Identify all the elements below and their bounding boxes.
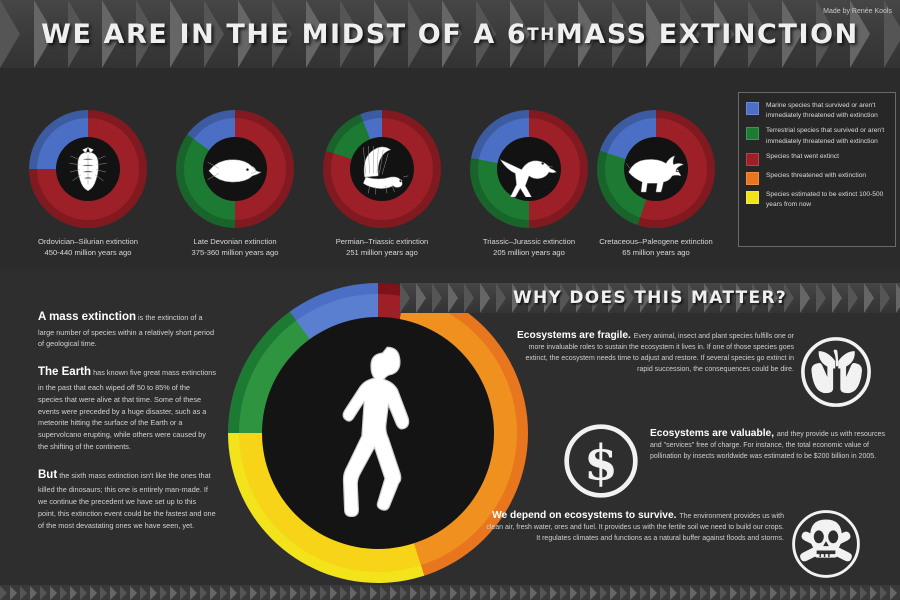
matter-section-title: WHY DOES THIS MATTER? xyxy=(400,283,900,313)
chevron-arrow xyxy=(60,586,67,600)
extinction-caption: Ordovician–Silurian extinction450-440 mi… xyxy=(8,236,168,259)
extinction-caption: Late Devonian extinction375-360 million … xyxy=(155,236,315,259)
chevron-arrow xyxy=(20,586,27,600)
chevron-arrow xyxy=(150,586,157,600)
chevron-arrow xyxy=(520,586,527,600)
chevron-arrow xyxy=(760,586,767,600)
block-heading-text: Ecosystems are valuable, xyxy=(650,428,774,439)
legend-swatch-green xyxy=(746,127,759,140)
extinction-donut-chart xyxy=(323,110,441,228)
dimetrodon-icon xyxy=(350,141,414,197)
donut-center xyxy=(262,317,494,549)
extinction-date: 251 million years ago xyxy=(302,247,462,258)
chevron-arrow xyxy=(500,586,507,600)
extinction-date: 450-440 million years ago xyxy=(8,247,168,258)
block-ecosystems-fragile: Ecosystems are fragile. Every animal, in… xyxy=(512,330,794,374)
page-title: WE ARE IN THE MIDST OF A 6TH MASS EXTINC… xyxy=(0,0,900,68)
chevron-arrow xyxy=(800,586,807,600)
paragraph-lead: The Earth xyxy=(38,366,91,378)
chevron-arrow xyxy=(830,586,837,600)
chevron-arrow xyxy=(680,586,687,600)
donut-center xyxy=(624,137,688,201)
extinction-donut-chart xyxy=(597,110,715,228)
hands-holding-plant-icon xyxy=(800,336,872,408)
legend-item: Marine species that survived or aren't i… xyxy=(746,101,888,121)
chevron-arrow xyxy=(400,586,407,600)
extinction-item: Cretaceous–Paleogene extinction65 millio… xyxy=(576,110,736,259)
chevron-arrow xyxy=(410,586,417,600)
extinction-donut-chart xyxy=(29,110,147,228)
paragraph-body: has known five great mass extinctions in… xyxy=(38,368,216,451)
chevron-arrow xyxy=(190,586,197,600)
chevron-arrow xyxy=(70,586,77,600)
chevron-arrow xyxy=(570,586,577,600)
chevron-arrow xyxy=(330,586,337,600)
block-ecosystems-valuable: Ecosystems are valuable, and they provid… xyxy=(650,428,894,461)
definition-paragraph: But the sixth mass extinction isn't like… xyxy=(38,466,216,532)
chevron-arrow xyxy=(100,586,107,600)
chevron-arrow xyxy=(690,586,697,600)
trilobite-icon xyxy=(56,141,120,197)
chevron-arrow xyxy=(10,586,17,600)
chevron-arrow xyxy=(160,586,167,600)
walking-human-icon xyxy=(319,338,437,528)
definition-text-column: A mass extinction is the extinction of a… xyxy=(38,308,216,545)
chevron-arrow xyxy=(90,586,97,600)
chevron-arrow xyxy=(230,586,237,600)
extinction-date: 65 million years ago xyxy=(576,247,736,258)
chevron-arrow xyxy=(810,586,817,600)
chevron-arrow xyxy=(480,586,487,600)
chevron-arrow xyxy=(210,586,217,600)
chevron-arrow xyxy=(130,586,137,600)
extinction-name: Ordovician–Silurian extinction xyxy=(8,236,168,247)
legend-item: Species that went extinct xyxy=(746,152,888,166)
donut-center xyxy=(350,137,414,201)
paragraph-lead: But xyxy=(38,469,57,481)
legend-item: Species estimated to be extinct 100-500 … xyxy=(746,190,888,210)
definition-paragraph: The Earth has known five great mass exti… xyxy=(38,363,216,453)
block-depend-on-ecosystems: We depend on ecosystems to survive. The … xyxy=(484,510,784,543)
chevron-arrow xyxy=(0,586,7,600)
chevron-arrow xyxy=(650,586,657,600)
svg-text:$: $ xyxy=(584,436,618,492)
legend-item-label: Species estimated to be extinct 100-500 … xyxy=(766,190,888,210)
legend-item-label: Marine species that survived or aren't i… xyxy=(766,101,888,121)
chevron-arrow xyxy=(730,586,737,600)
chevron-arrow xyxy=(580,586,587,600)
chevron-arrow xyxy=(220,586,227,600)
chevron-arrow xyxy=(250,586,257,600)
legend-swatch-yellow xyxy=(746,191,759,204)
extinction-donut-chart xyxy=(470,110,588,228)
extinction-item: Late Devonian extinction375-360 million … xyxy=(155,110,315,259)
chevron-arrow xyxy=(440,586,447,600)
chevron-arrow xyxy=(840,586,847,600)
legend-item-label: Species that went extinct xyxy=(766,152,839,162)
chevron-arrow xyxy=(460,586,467,600)
chevron-arrow xyxy=(180,586,187,600)
chevron-arrow xyxy=(320,586,327,600)
definition-paragraph: A mass extinction is the extinction of a… xyxy=(38,308,216,350)
chevron-arrow xyxy=(780,586,787,600)
chevron-arrow xyxy=(40,586,47,600)
credit-text: Made by Renée Kools xyxy=(823,8,892,15)
page-title-main: WE ARE IN THE MIDST OF A 6 xyxy=(41,19,527,50)
legend-item: Species threatened with extinction xyxy=(746,171,888,185)
donut-center xyxy=(56,137,120,201)
legend-item-label: Species threatened with extinction xyxy=(766,171,866,181)
chevron-arrow xyxy=(670,586,677,600)
current-extinction-donut-chart xyxy=(228,283,528,583)
extinction-name: Cretaceous–Paleogene extinction xyxy=(576,236,736,247)
chevron-arrow xyxy=(110,586,117,600)
triceratops-icon xyxy=(624,141,688,197)
chevron-arrow xyxy=(860,586,867,600)
legend-swatch-orange xyxy=(746,172,759,185)
donut-center xyxy=(497,137,561,201)
theropod-dinosaur-icon xyxy=(497,141,561,197)
page-title-ordinal: TH xyxy=(527,24,556,44)
chevron-arrow xyxy=(350,586,357,600)
legend-swatch-red xyxy=(746,153,759,166)
chevron-arrow xyxy=(470,586,477,600)
legend-swatch-blue xyxy=(746,102,759,115)
page-title-tail: MASS EXTINCTION xyxy=(556,19,859,50)
extinction-item: Permian–Triassic extinction251 million y… xyxy=(302,110,462,259)
chevron-arrow xyxy=(370,586,377,600)
skull-crossbones-icon xyxy=(790,508,862,580)
chevron-arrow xyxy=(430,586,437,600)
chevron-arrow xyxy=(170,586,177,600)
extinction-caption: Cretaceous–Paleogene extinction65 millio… xyxy=(576,236,736,259)
block-heading-text: Ecosystems are fragile. xyxy=(517,330,631,341)
chevron-arrow xyxy=(890,586,897,600)
chevron-arrow xyxy=(820,586,827,600)
chevron-arrow xyxy=(510,586,517,600)
extinction-donut-chart xyxy=(176,110,294,228)
chevron-arrow xyxy=(770,586,777,600)
chevron-arrow xyxy=(280,586,287,600)
extinction-name: Permian–Triassic extinction xyxy=(302,236,462,247)
chevron-arrow xyxy=(710,586,717,600)
chevron-arrow xyxy=(870,586,877,600)
footer-chevron-band xyxy=(0,585,900,600)
chevron-arrow xyxy=(640,586,647,600)
block-heading: Ecosystems are fragile. Every animal, in… xyxy=(512,330,794,374)
block-heading: Ecosystems are valuable, and they provid… xyxy=(650,428,894,461)
extinction-caption: Permian–Triassic extinction251 million y… xyxy=(302,236,462,259)
chevron-arrow xyxy=(260,586,267,600)
chevron-arrow xyxy=(660,586,667,600)
chevron-arrow xyxy=(420,586,427,600)
chevron-arrow xyxy=(540,586,547,600)
chevron-arrow xyxy=(700,586,707,600)
chevron-arrow xyxy=(30,586,37,600)
placoderm-fish-icon xyxy=(203,141,267,197)
chevron-arrow xyxy=(720,586,727,600)
chevron-arrow xyxy=(340,586,347,600)
chevron-arrow xyxy=(140,586,147,600)
dollar-sign-icon: $ xyxy=(562,422,640,500)
chevron-arrow xyxy=(530,586,537,600)
donut-center xyxy=(203,137,267,201)
chevron-arrow xyxy=(490,586,497,600)
chevron-arrow xyxy=(560,586,567,600)
legend: Marine species that survived or aren't i… xyxy=(738,92,896,247)
chevron-arrow xyxy=(120,586,127,600)
chevron-arrow xyxy=(300,586,307,600)
extinction-date: 375-360 million years ago xyxy=(155,247,315,258)
chevron-arrow xyxy=(50,586,57,600)
chevron-arrow xyxy=(550,586,557,600)
legend-item: Terrestrial species that survived or are… xyxy=(746,126,888,146)
chevron-arrow xyxy=(450,586,457,600)
paragraph-body: the sixth mass extinction isn't like the… xyxy=(38,471,216,530)
chevron-arrow xyxy=(850,586,857,600)
chevron-arrow xyxy=(200,586,207,600)
chevron-arrow xyxy=(360,586,367,600)
chevron-arrow xyxy=(590,586,597,600)
chevron-arrow xyxy=(310,586,317,600)
chevron-arrow xyxy=(790,586,797,600)
extinction-item: Ordovician–Silurian extinction450-440 mi… xyxy=(8,110,168,259)
chevron-arrow xyxy=(610,586,617,600)
chevron-arrow xyxy=(290,586,297,600)
chevron-arrow xyxy=(630,586,637,600)
chevron-arrow xyxy=(80,586,87,600)
paragraph-lead: A mass extinction xyxy=(38,311,136,323)
chevron-arrow xyxy=(240,586,247,600)
chevron-arrow xyxy=(600,586,607,600)
chevron-arrow xyxy=(270,586,277,600)
extinction-name: Late Devonian extinction xyxy=(155,236,315,247)
chevron-arrow xyxy=(620,586,627,600)
block-heading: We depend on ecosystems to survive. The … xyxy=(484,510,784,543)
chevron-arrow xyxy=(740,586,747,600)
chevron-arrow xyxy=(390,586,397,600)
chevron-arrow xyxy=(750,586,757,600)
chevron-arrow xyxy=(380,586,387,600)
block-heading-text: We depend on ecosystems to survive. xyxy=(492,510,676,521)
chevron-arrow xyxy=(880,586,887,600)
legend-item-label: Terrestrial species that survived or are… xyxy=(766,126,888,146)
